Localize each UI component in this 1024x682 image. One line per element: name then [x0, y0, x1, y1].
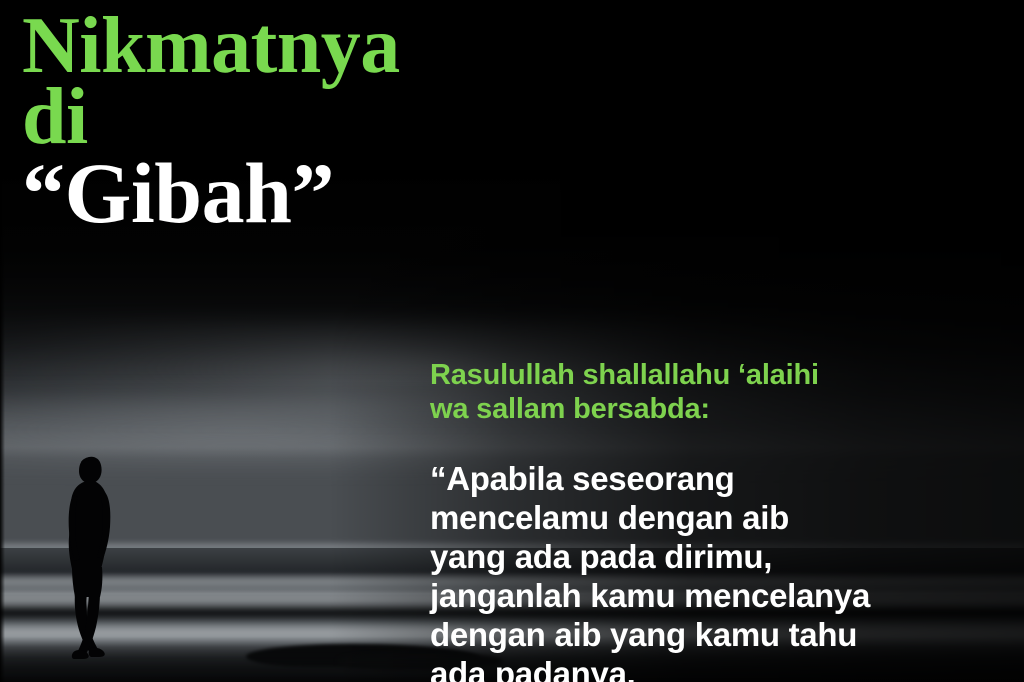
- quote-block: Rasulullah shallallahu ‘alaihi wa sallam…: [430, 358, 996, 682]
- quote-line-1: “Apabila seseorang: [430, 460, 996, 499]
- attribution-line-1: Rasulullah shallallahu ‘alaihi: [430, 358, 996, 392]
- quote-line-5: dengan aib yang kamu tahu: [430, 616, 996, 655]
- left-edge-shadow: [0, 0, 5, 682]
- headline-line-3: “Gibah”: [22, 152, 582, 235]
- poster: Nikmatnya di “Gibah” Rasulullah shallall…: [0, 0, 1024, 682]
- quote-text: “Apabila seseorang mencelamu dengan aib …: [430, 460, 996, 682]
- quote-line-3: yang ada pada dirimu,: [430, 538, 996, 577]
- attribution-text: Rasulullah shallallahu ‘alaihi wa sallam…: [430, 358, 996, 426]
- quote-line-6: ada padanya.: [430, 655, 996, 682]
- person-silhouette-icon: [58, 455, 124, 660]
- page-title: Nikmatnya di “Gibah”: [22, 8, 582, 234]
- attribution-line-2: wa sallam bersabda:: [430, 392, 996, 426]
- quote-line-2: mencelamu dengan aib: [430, 499, 996, 538]
- headline-line-1: Nikmatnya: [22, 8, 582, 85]
- quote-line-4: janganlah kamu mencelanya: [430, 577, 996, 616]
